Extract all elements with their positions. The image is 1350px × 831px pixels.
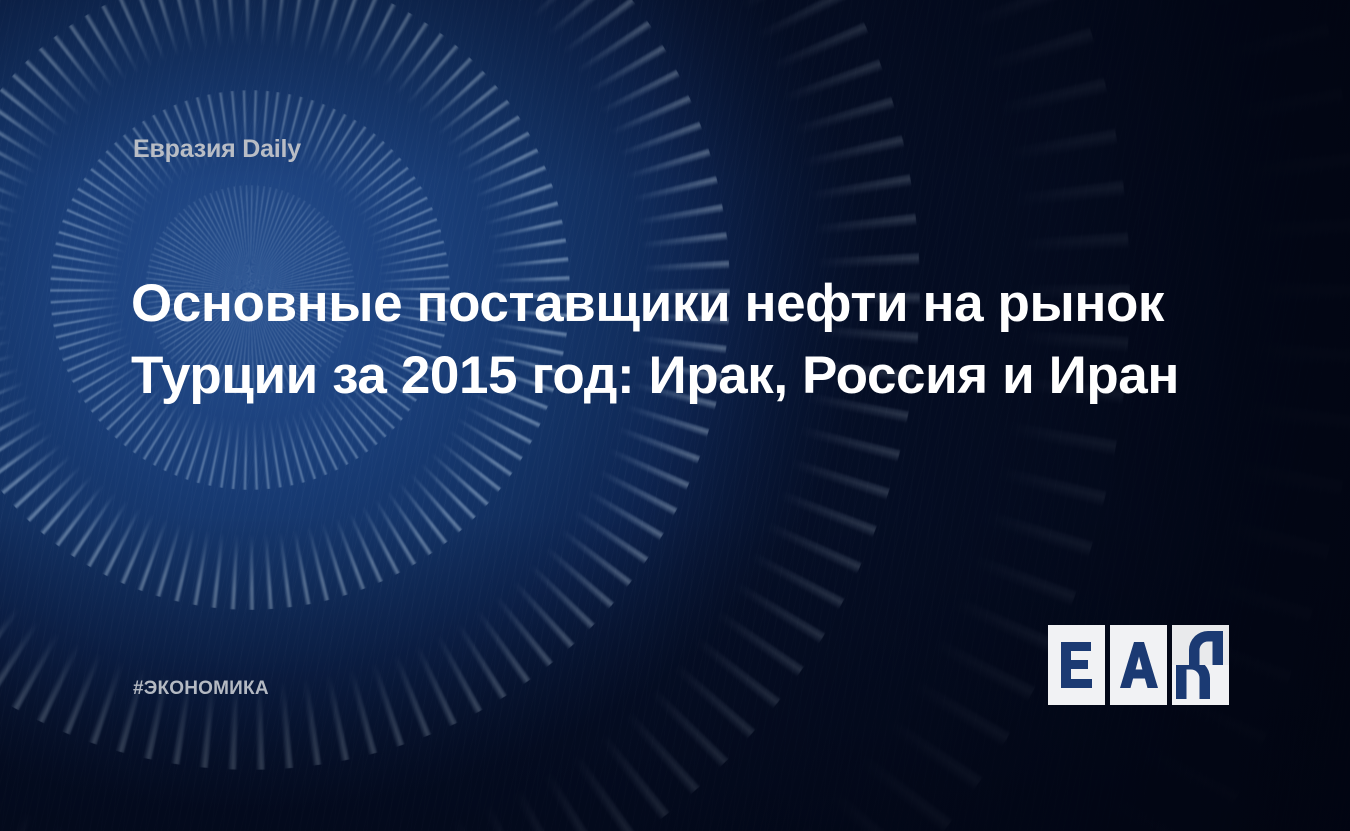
logo-tile-e [1048, 625, 1105, 705]
brand-wordmark: Евразия Daily [133, 135, 301, 164]
social-share-card: Евразия Daily Основные поставщики нефти … [0, 0, 1350, 831]
logo-tile-d-top-half [1172, 625, 1229, 665]
card-content: Евразия Daily Основные поставщики нефти … [0, 0, 1350, 831]
logo-tile-d-bottom-half [1172, 665, 1229, 705]
page-title: Основные поставщики нефти на рынок Турци… [131, 268, 1261, 412]
eadaily-logo [1048, 625, 1229, 705]
letter-e-icon [1061, 642, 1093, 688]
logo-tile-d-split [1172, 625, 1229, 705]
letter-d-upper-icon [1172, 625, 1229, 665]
logo-tile-a [1110, 625, 1167, 705]
category-hashtag: #ЭКОНОМИКА [133, 678, 269, 700]
letter-a-icon [1120, 642, 1158, 688]
letter-d-lower-icon [1172, 665, 1229, 705]
